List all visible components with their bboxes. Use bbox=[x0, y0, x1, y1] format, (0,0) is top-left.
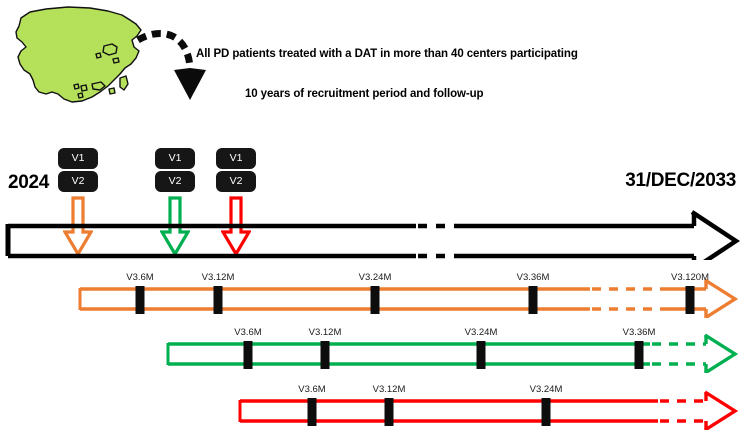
visit-boxes-cohort-green: V1 V2 bbox=[155, 148, 195, 194]
tick-mark bbox=[308, 398, 317, 426]
tick-mark bbox=[385, 398, 394, 426]
header-line-1: All PD patients treated with a DAT in mo… bbox=[196, 48, 578, 60]
tick-label: V3.6M bbox=[298, 384, 325, 395]
tick-mark bbox=[136, 286, 145, 314]
study-timeline-figure: All PD patients treated with a DAT in mo… bbox=[0, 0, 740, 434]
tick-mark bbox=[529, 286, 538, 314]
header-line-2: 10 years of recruitment period and follo… bbox=[245, 88, 483, 100]
timeline-end-date-label: 31/DEC/2033 bbox=[625, 170, 736, 192]
visit-box-v1: V1 bbox=[216, 148, 256, 169]
tick-mark bbox=[321, 341, 330, 369]
visit-box-v1: V1 bbox=[155, 148, 195, 169]
tick-mark bbox=[686, 286, 695, 314]
cohort-row-orange: V3.6M V3.12M V3.24M V3.36M V3.120M bbox=[0, 272, 740, 318]
tick-label: V3.24M bbox=[465, 327, 498, 338]
visit-box-v2: V2 bbox=[58, 171, 98, 192]
tick-label: V3.12M bbox=[373, 384, 406, 395]
tick-label: V3.12M bbox=[202, 272, 235, 283]
tick-mark bbox=[371, 286, 380, 314]
main-timeline-arrow bbox=[4, 204, 740, 260]
tick-label: V3.36M bbox=[517, 272, 550, 283]
visit-boxes-cohort-orange: V1 V2 bbox=[58, 148, 98, 194]
visit-box-v1: V1 bbox=[58, 148, 98, 169]
tick-mark bbox=[214, 286, 223, 314]
tick-label: V3.24M bbox=[530, 384, 563, 395]
tick-label: V3.24M bbox=[359, 272, 392, 283]
tick-label: V3.6M bbox=[234, 327, 261, 338]
tick-label: V3.6M bbox=[126, 272, 153, 283]
timeline-start-year-label: 2024 bbox=[8, 172, 49, 194]
tick-label: V3.120M bbox=[671, 272, 709, 283]
cohort-row-green: V3.6M V3.12M V3.24M V3.36M bbox=[0, 327, 740, 373]
visit-boxes-cohort-red: V1 V2 bbox=[216, 148, 256, 194]
visit-box-v2: V2 bbox=[216, 171, 256, 192]
cohort-row-red: V3.6M V3.12M V3.24M bbox=[0, 384, 740, 430]
tick-mark bbox=[477, 341, 486, 369]
tick-label: V3.12M bbox=[309, 327, 342, 338]
tick-mark bbox=[635, 341, 644, 369]
curved-dashed-arrow-icon bbox=[130, 20, 220, 115]
tick-label: V3.36M bbox=[623, 327, 656, 338]
tick-mark bbox=[542, 398, 551, 426]
visit-box-v2: V2 bbox=[155, 171, 195, 192]
tick-mark bbox=[244, 341, 253, 369]
